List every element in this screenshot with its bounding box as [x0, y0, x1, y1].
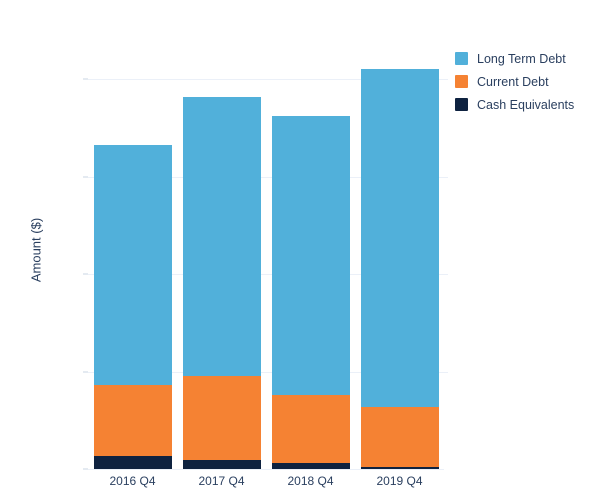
bar-segment[interactable]	[94, 456, 172, 469]
bar-segment[interactable]	[361, 69, 439, 406]
x-axis-tick-label: 2016 Q4	[83, 474, 183, 488]
legend-swatch-icon	[455, 75, 468, 88]
legend-swatch-icon	[455, 98, 468, 111]
bar-stack[interactable]	[361, 0, 439, 469]
legend-item[interactable]: Cash Equivalents	[455, 94, 574, 115]
x-axis-tick-label: 2017 Q4	[172, 474, 272, 488]
stacked-bar-chart: Amount ($) 05B10B15B20B 2016 Q42017 Q420…	[0, 0, 600, 500]
bar-segment[interactable]	[272, 395, 350, 463]
bar-stack[interactable]	[94, 0, 172, 469]
bar-segment[interactable]	[183, 376, 261, 460]
bar-segment[interactable]	[183, 97, 261, 376]
bar-segment[interactable]	[361, 407, 439, 467]
legend-label: Long Term Debt	[477, 52, 566, 66]
chart-legend: Long Term DebtCurrent DebtCash Equivalen…	[455, 48, 574, 117]
legend-label: Current Debt	[477, 75, 549, 89]
x-axis-tick-label: 2019 Q4	[350, 474, 450, 488]
legend-swatch-icon	[455, 52, 468, 65]
bar-segment[interactable]	[272, 116, 350, 395]
y-axis-title-container: Amount ($)	[0, 0, 34, 500]
y-axis-title: Amount ($)	[29, 218, 44, 282]
bar-segment[interactable]	[361, 467, 439, 469]
legend-label: Cash Equivalents	[477, 98, 574, 112]
x-axis-tick-label: 2018 Q4	[261, 474, 361, 488]
legend-item[interactable]: Long Term Debt	[455, 48, 574, 69]
legend-item[interactable]: Current Debt	[455, 71, 574, 92]
bar-segment[interactable]	[94, 385, 172, 456]
bar-segment[interactable]	[272, 463, 350, 469]
bar-segment[interactable]	[183, 460, 261, 469]
x-axis-baseline	[88, 469, 444, 470]
bar-stack[interactable]	[183, 0, 261, 469]
bar-segment[interactable]	[94, 145, 172, 385]
bar-stack[interactable]	[272, 0, 350, 469]
